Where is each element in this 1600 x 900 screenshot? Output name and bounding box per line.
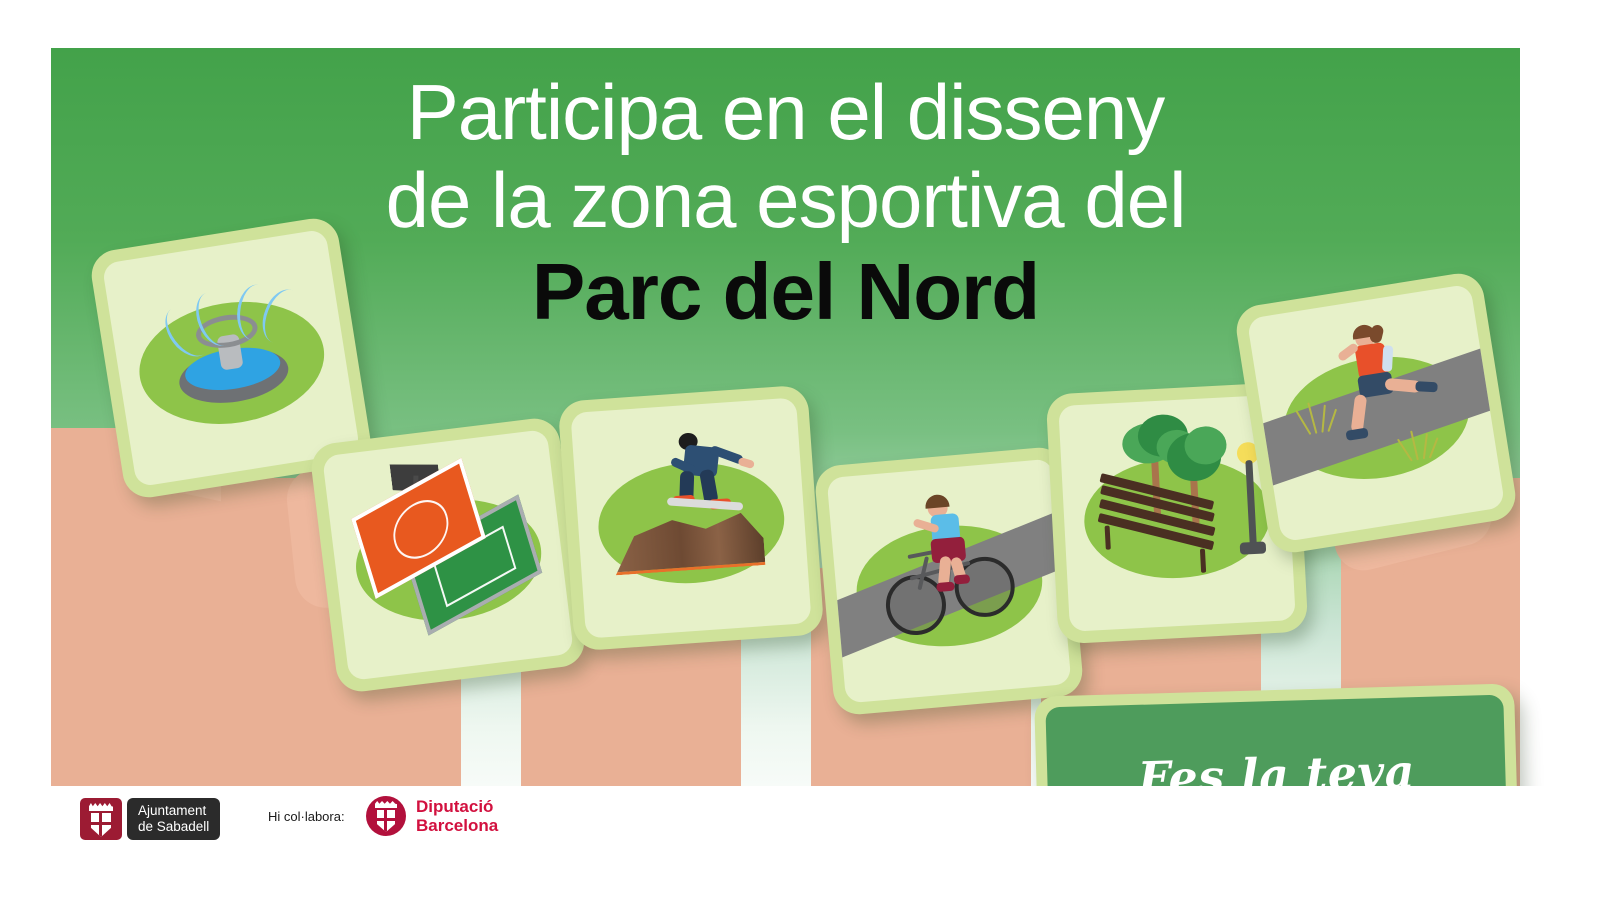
- shield-icon: [91, 813, 111, 837]
- headline-line-1: Participa en el disseny: [51, 68, 1520, 156]
- cyclist-figure: [827, 459, 1052, 479]
- diputacio-name: Diputació Barcelona: [416, 797, 498, 835]
- crown-icon: [89, 803, 113, 811]
- diputacio-line-2: Barcelona: [416, 816, 498, 835]
- sabadell-name-box: Ajuntament de Sabadell: [127, 798, 220, 840]
- card-skate-ramp[interactable]: [558, 385, 825, 652]
- skater-figure: [570, 397, 795, 413]
- card-skate-ramp-face: [570, 397, 811, 638]
- diputacio-crest-icon: [366, 796, 406, 836]
- sabadell-line-1: Ajuntament: [138, 803, 209, 819]
- crown-icon: [375, 801, 397, 808]
- sabadell-crest-icon: [80, 798, 122, 840]
- card-sports-court[interactable]: [309, 416, 588, 695]
- card-cyclist[interactable]: [814, 446, 1085, 717]
- card-runner[interactable]: [1233, 270, 1519, 556]
- footer-logos: Ajuntament de Sabadell Hi col·labora: Di…: [0, 786, 1600, 900]
- diputacio-line-1: Diputació: [416, 797, 498, 816]
- logo-ajuntament-sabadell[interactable]: Ajuntament de Sabadell: [80, 798, 220, 840]
- card-cyclist-face: [827, 459, 1072, 704]
- card-sports-court-face: [322, 429, 574, 681]
- banner-page: Participa en el disseny de la zona espor…: [0, 0, 1600, 900]
- logo-diputacio-barcelona[interactable]: Diputació Barcelona: [366, 796, 498, 836]
- shield-icon: [377, 810, 395, 832]
- promo-banner: Participa en el disseny de la zona espor…: [51, 48, 1520, 786]
- collaborator-label: Hi col·labora:: [268, 809, 345, 824]
- sabadell-line-2: de Sabadell: [138, 819, 209, 835]
- card-runner-face: [1247, 284, 1506, 543]
- runner-figure: [1247, 284, 1470, 319]
